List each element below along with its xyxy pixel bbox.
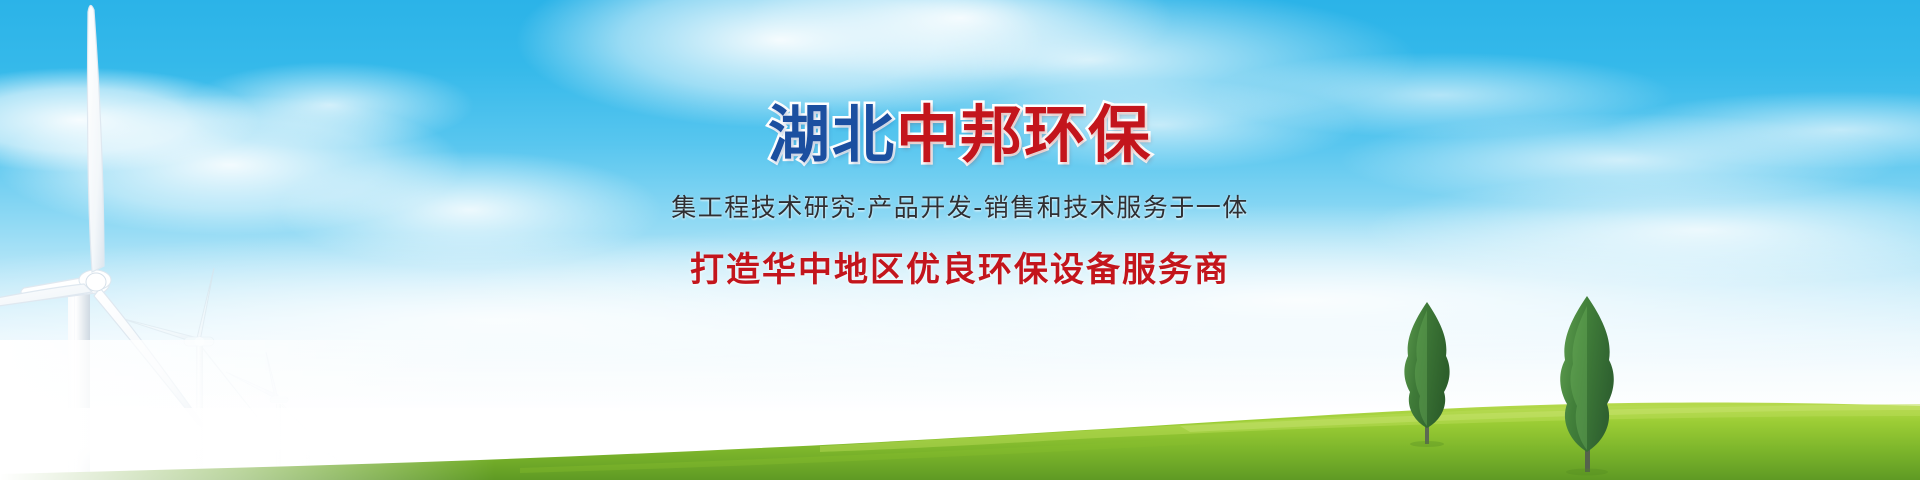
headline-region: 湖北 bbox=[768, 98, 896, 171]
page-title: 湖北中邦环保 bbox=[0, 104, 1920, 166]
hero-banner: 湖北中邦环保 集工程技术研究-产品开发-销售和技术服务于一体 打造华中地区优良环… bbox=[0, 0, 1920, 480]
banner-text-block: 湖北中邦环保 集工程技术研究-产品开发-销售和技术服务于一体 打造华中地区优良环… bbox=[0, 104, 1920, 291]
banner-tagline: 打造华中地区优良环保设备服务商 bbox=[0, 242, 1920, 291]
banner-subtitle: 集工程技术研究-产品开发-销售和技术服务于一体 bbox=[0, 188, 1920, 224]
headline-brand: 中邦环保 bbox=[896, 98, 1152, 171]
